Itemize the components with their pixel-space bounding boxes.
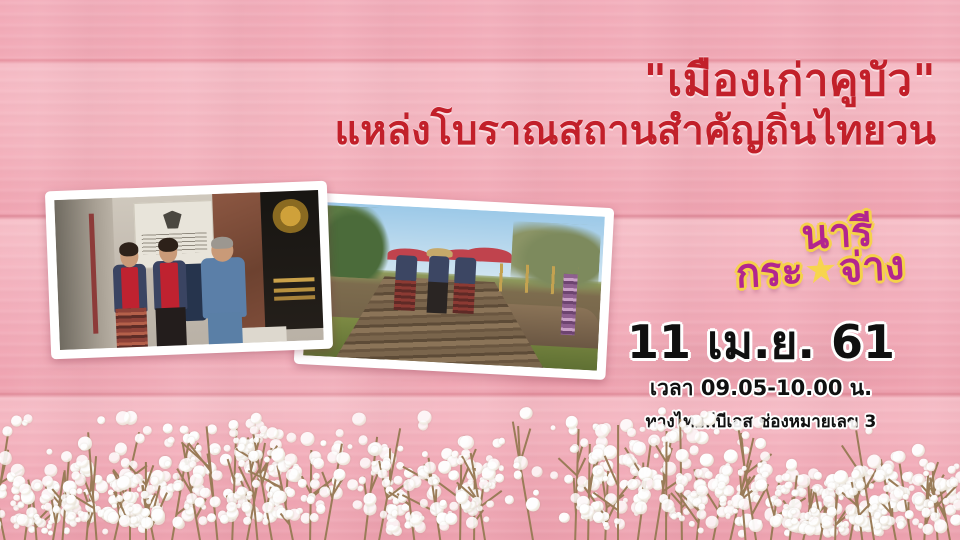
flower-bloom	[237, 437, 247, 447]
flower-bloom	[675, 511, 681, 517]
flower-bloom	[791, 489, 800, 498]
flower-branch	[800, 489, 815, 540]
flower-bloom	[756, 465, 766, 475]
flower-bloom	[68, 497, 80, 509]
flower-twig	[907, 502, 909, 522]
flower-bloom	[875, 495, 884, 504]
flower-stem	[23, 494, 32, 540]
flower-bloom	[599, 462, 606, 469]
flower-bloom	[753, 495, 762, 504]
flower-bloom	[276, 456, 284, 464]
flower-bloom	[524, 496, 540, 512]
flower-bloom	[74, 474, 86, 486]
flower-twig	[467, 485, 479, 501]
flower-bloom	[419, 499, 429, 509]
flower-bloom	[687, 492, 702, 507]
flower-bloom	[790, 521, 802, 533]
flower-bloom	[807, 468, 819, 480]
flower-twig	[576, 446, 583, 463]
flower-bloom	[398, 491, 408, 501]
flower-bloom	[694, 479, 706, 491]
flower-bloom	[570, 445, 579, 454]
flower-bloom	[132, 473, 144, 485]
flower-bloom	[682, 490, 692, 500]
flower-twig	[782, 500, 793, 514]
flower-bloom	[858, 476, 865, 483]
flower-bloom	[201, 504, 207, 510]
flower-branch	[84, 477, 92, 540]
flower-bloom	[830, 501, 844, 515]
flower-bloom	[872, 469, 886, 483]
flower-bloom	[634, 501, 648, 515]
flower-bloom	[158, 481, 167, 490]
flower-bloom	[209, 496, 220, 507]
flower-bloom	[596, 504, 603, 511]
flower-bloom	[173, 473, 180, 480]
flower-bloom	[733, 516, 743, 526]
flower-bloom	[80, 460, 95, 475]
flower-bloom	[253, 449, 262, 458]
flower-twig	[461, 455, 476, 481]
flower-bloom	[140, 492, 156, 508]
flower-bloom	[868, 494, 881, 507]
flower-bloom	[47, 523, 53, 529]
flower-bloom	[263, 455, 271, 463]
flower-bloom	[167, 436, 175, 444]
flower-bloom	[854, 514, 865, 525]
flower-bloom	[229, 428, 238, 437]
flower-bloom	[321, 440, 326, 445]
flower-twig	[424, 464, 433, 481]
flower-bloom	[856, 509, 869, 522]
flower-bloom	[836, 482, 846, 492]
flower-bloom	[249, 425, 259, 435]
flower-bloom	[226, 492, 238, 504]
flower-branch	[922, 473, 928, 540]
flower-bloom	[631, 469, 637, 475]
flower-bloom	[662, 454, 668, 460]
flower-bloom	[153, 503, 162, 512]
flower-bloom	[293, 464, 300, 471]
flower-bloom	[894, 514, 905, 525]
flower-bloom	[781, 472, 790, 481]
flower-twig	[238, 466, 256, 499]
flower-branch	[60, 458, 69, 540]
flower-bloom	[671, 513, 677, 519]
flower-stem	[459, 463, 462, 540]
flower-bloom	[845, 477, 857, 489]
flower-bloom	[866, 453, 882, 469]
flower-bloom	[140, 507, 151, 518]
flower-bloom	[765, 497, 775, 507]
flower-bloom	[370, 445, 379, 454]
flower-bloom	[848, 513, 861, 526]
flower-twig	[83, 492, 90, 507]
flower-bloom	[795, 473, 811, 489]
flower-bloom	[784, 468, 799, 483]
flower-bloom	[198, 465, 204, 471]
flower-bloom	[134, 518, 143, 527]
flower-bloom	[811, 507, 818, 514]
flower-bloom	[246, 494, 253, 501]
flower-bloom	[64, 514, 75, 525]
flower-bloom	[184, 498, 197, 511]
flower-bloom	[429, 502, 445, 518]
flower-bloom	[253, 450, 265, 462]
flower-bloom	[242, 497, 250, 505]
flower-twig	[763, 482, 775, 516]
flower-twig	[181, 442, 211, 469]
flower-bloom	[259, 432, 265, 438]
flower-bloom	[733, 509, 739, 515]
flower-bloom	[43, 462, 59, 478]
flower-bloom	[61, 450, 73, 462]
flower-bloom	[614, 518, 620, 524]
flower-bloom	[626, 478, 638, 490]
flower-twig	[26, 504, 30, 520]
flower-bloom	[266, 449, 273, 456]
flower-bloom	[451, 450, 459, 458]
flower-bloom	[740, 446, 750, 456]
flower-bloom	[121, 471, 137, 487]
flower-bloom	[108, 452, 120, 464]
flower-bloom	[123, 490, 138, 505]
flower-bloom	[64, 507, 73, 516]
flower-bloom	[362, 501, 377, 516]
flower-bloom	[333, 468, 347, 482]
flower-bloom	[21, 491, 36, 506]
flower-bloom	[288, 469, 303, 484]
flower-bloom	[191, 486, 199, 494]
flower-bloom	[160, 471, 171, 482]
flower-bloom	[464, 515, 478, 529]
flower-stem	[31, 493, 37, 540]
flower-bloom	[289, 509, 301, 521]
flower-bloom	[162, 493, 171, 502]
flower-stem	[855, 430, 876, 540]
flower-bloom	[417, 465, 429, 477]
flower-bloom	[591, 473, 604, 486]
flower-bloom	[487, 460, 497, 470]
flower-bloom	[367, 441, 383, 457]
flower-bloom	[651, 437, 658, 444]
flower-bloom	[110, 494, 125, 509]
flower-bloom	[592, 509, 606, 523]
flower-stem	[679, 418, 683, 540]
flower-bloom	[787, 498, 804, 515]
flower-bloom	[604, 492, 617, 505]
flower-twig	[397, 493, 411, 506]
flower-bloom	[912, 518, 919, 525]
flower-bloom	[743, 488, 759, 504]
flower-bloom	[234, 474, 240, 480]
flower-bloom	[426, 487, 440, 501]
flower-bloom	[483, 516, 489, 522]
flower-branch	[0, 469, 6, 540]
flower-branch	[181, 444, 201, 540]
flower-stem	[711, 484, 725, 540]
flower-bloom	[603, 524, 610, 531]
flower-bloom	[836, 489, 843, 496]
flower-bloom	[370, 470, 376, 476]
flower-bloom	[132, 506, 147, 521]
flower-bloom	[447, 456, 459, 468]
flower-bloom	[715, 506, 728, 519]
flower-bloom	[662, 461, 678, 477]
flower-bloom	[823, 496, 835, 508]
flower-bloom	[246, 449, 259, 462]
flower-branch	[727, 438, 753, 540]
flower-bloom	[790, 509, 797, 516]
flower-stem	[728, 438, 754, 540]
flower-bloom	[235, 450, 247, 462]
flower-bloom	[286, 510, 294, 518]
flower-bloom	[809, 518, 821, 530]
flower-bloom	[727, 501, 733, 507]
flower-bloom	[646, 469, 658, 481]
flower-bloom	[494, 472, 504, 482]
flower-bloom	[835, 483, 845, 493]
flower-bloom	[683, 472, 692, 481]
flower-bloom	[438, 461, 451, 474]
flower-twig	[190, 476, 197, 492]
flower-bloom	[821, 526, 834, 539]
flower-bloom	[388, 480, 394, 486]
flower-bloom	[896, 517, 907, 528]
flower-bloom	[513, 454, 529, 470]
flower-twig	[662, 480, 679, 493]
flower-twig	[234, 442, 249, 458]
flower-bloom	[273, 453, 283, 463]
flower-twig	[301, 475, 312, 493]
flower-bloom	[774, 489, 782, 497]
flower-twig	[435, 490, 438, 508]
flower-twig	[858, 502, 872, 517]
flower-bloom	[261, 518, 269, 526]
flower-bloom	[719, 499, 727, 507]
flower-bloom	[13, 512, 26, 525]
flower-bloom	[211, 469, 222, 480]
flower-bloom	[599, 448, 611, 460]
flower-twig	[0, 503, 2, 524]
flower-stem	[818, 489, 831, 540]
flower-bloom	[915, 475, 923, 483]
flower-stem	[737, 430, 757, 540]
flower-bloom	[900, 486, 911, 497]
flower-bloom	[77, 436, 92, 451]
flower-twig	[145, 465, 154, 486]
flower-bloom	[796, 526, 803, 533]
flower-twig	[919, 482, 946, 512]
flower-bloom	[351, 412, 366, 427]
flower-bloom	[761, 471, 769, 479]
flower-bloom	[947, 492, 959, 504]
flower-bloom	[187, 448, 202, 463]
flower-bloom	[615, 500, 628, 513]
flower-bloom	[153, 483, 161, 491]
flower-bloom	[480, 477, 486, 483]
flower-bloom	[82, 463, 96, 477]
flower-bloom	[22, 419, 29, 426]
flower-bloom	[103, 508, 119, 524]
flower-bloom	[397, 445, 404, 452]
flower-bloom	[869, 503, 885, 519]
flower-bloom	[46, 479, 61, 494]
flower-twig	[850, 482, 859, 515]
flower-bloom	[386, 524, 397, 535]
flower-twig	[823, 489, 827, 522]
flower-bloom	[849, 486, 859, 496]
flower-bloom	[28, 525, 36, 533]
flower-bloom	[754, 478, 768, 492]
flower-bloom	[181, 508, 196, 523]
flower-bloom	[662, 461, 668, 467]
flower-bloom	[482, 485, 489, 492]
flower-bloom	[940, 479, 951, 490]
flower-bloom	[844, 481, 856, 493]
flower-branch	[768, 482, 779, 540]
flower-bloom	[688, 521, 695, 528]
scene-ancient-stairs	[303, 201, 605, 370]
flower-bloom	[46, 448, 53, 455]
air-channel: ทางไทยพีบีเอส ช่องหมายเลข 3	[596, 408, 926, 435]
flower-bloom	[63, 490, 77, 504]
flower-bloom	[53, 483, 61, 491]
flower-bloom	[773, 498, 782, 507]
flower-bloom	[419, 515, 425, 521]
flower-bloom	[386, 479, 393, 486]
flower-twig	[141, 485, 147, 511]
flower-bloom	[182, 433, 193, 444]
flower-bloom	[764, 508, 778, 522]
flower-twig	[195, 498, 207, 518]
flower-stem	[834, 488, 838, 540]
flower-bloom	[178, 461, 188, 471]
flower-bloom	[202, 461, 217, 476]
flower-bloom	[209, 442, 223, 456]
flower-bloom	[584, 480, 594, 490]
flower-bloom	[404, 521, 413, 530]
flower-bloom	[588, 455, 597, 464]
flower-twig	[0, 469, 23, 484]
flower-bloom	[934, 517, 941, 524]
flower-stem	[428, 458, 442, 540]
flower-bloom	[873, 503, 887, 517]
flower-bloom	[315, 500, 324, 509]
flower-bloom	[380, 444, 388, 452]
flower-bloom	[199, 487, 210, 498]
person-elder-guide	[198, 238, 250, 350]
flower-stem	[898, 464, 912, 540]
flower-bloom	[704, 515, 720, 531]
flower-bloom	[404, 510, 416, 522]
flower-bloom	[774, 513, 784, 523]
flower-stem	[182, 443, 202, 540]
flower-bloom	[409, 511, 424, 526]
flower-twig	[930, 488, 947, 521]
flower-bloom	[334, 440, 344, 450]
flower-bloom	[79, 464, 92, 477]
flower-bloom	[272, 490, 288, 506]
flower-bloom	[690, 497, 701, 508]
flower-bloom	[955, 471, 960, 483]
flower-bloom	[832, 481, 840, 489]
flower-bloom	[239, 436, 248, 445]
flower-bloom	[796, 486, 804, 494]
flower-bloom	[736, 439, 743, 446]
flower-twig	[741, 479, 750, 498]
flower-bloom	[259, 424, 268, 433]
flower-bloom	[461, 449, 471, 459]
flower-branch	[86, 432, 97, 540]
flower-bloom	[683, 508, 690, 515]
flower-bloom	[19, 483, 32, 496]
flower-bloom	[243, 459, 257, 473]
flower-bloom	[558, 513, 569, 524]
flower-bloom	[11, 415, 23, 427]
flower-bloom	[776, 484, 784, 492]
flower-bloom	[180, 425, 189, 434]
flower-bloom	[696, 484, 709, 497]
flower-bloom	[845, 504, 859, 518]
flower-bloom	[577, 485, 585, 493]
flower-bloom	[385, 503, 397, 515]
flower-bloom	[41, 475, 53, 487]
flower-bloom	[924, 499, 933, 508]
flower-bloom	[347, 444, 353, 450]
flower-bloom	[660, 494, 669, 503]
flower-bloom	[10, 462, 27, 479]
flower-branch	[362, 437, 377, 540]
flower-bloom	[821, 523, 828, 530]
flower-bloom	[284, 487, 292, 495]
flower-bloom	[603, 445, 617, 459]
flower-twig	[248, 470, 283, 489]
flower-bloom	[116, 495, 123, 502]
flower-bloom	[504, 494, 514, 504]
flower-bloom	[738, 469, 745, 476]
flower-bloom	[663, 440, 670, 447]
flower-branch	[847, 472, 862, 540]
flower-bloom	[902, 494, 909, 501]
flower-bloom	[838, 527, 843, 532]
flower-bloom	[0, 509, 6, 518]
flower-twig	[70, 493, 95, 509]
flower-bloom	[696, 508, 707, 519]
flower-twig	[926, 487, 950, 507]
flower-bloom	[637, 467, 653, 483]
flower-bloom	[810, 501, 823, 514]
flower-bloom	[352, 500, 363, 511]
flower-bloom	[886, 479, 901, 494]
flower-twig	[456, 481, 479, 502]
flower-bloom	[194, 497, 204, 507]
flower-bloom	[38, 493, 49, 504]
flower-stem	[695, 479, 704, 540]
flower-twig	[146, 493, 156, 510]
flower-bloom	[771, 515, 782, 526]
flower-branch	[30, 493, 36, 540]
flower-branch	[635, 440, 651, 540]
flower-bloom	[868, 505, 877, 514]
flower-bloom	[878, 517, 891, 530]
flower-bloom	[175, 479, 183, 487]
museum-black-plaque	[260, 190, 324, 330]
flower-branch	[573, 429, 579, 540]
flower-bloom	[220, 514, 229, 523]
flower-bloom	[707, 477, 722, 492]
flower-twig	[655, 446, 668, 465]
